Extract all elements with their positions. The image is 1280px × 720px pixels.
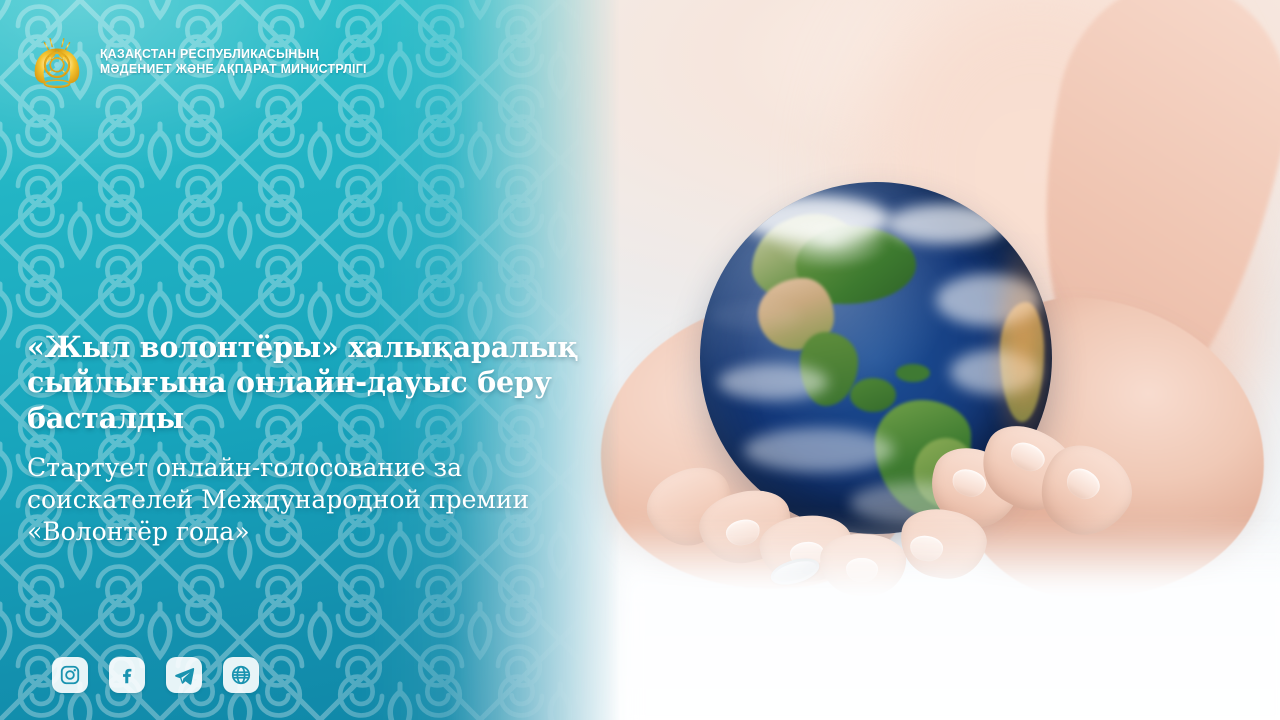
kazakhstan-state-emblem-icon <box>28 33 86 91</box>
foreground-white-surface <box>620 520 1280 720</box>
ministry-title: ҚАЗАҚСТАН РЕСПУБЛИКАСЫНЫҢ МӘДЕНИЕТ ЖӘНЕ … <box>100 47 387 77</box>
ministry-line-2: МӘДЕНИЕТ ЖӘНЕ АҚПАРАТ МИНИСТРЛІГІ <box>100 62 367 77</box>
instagram-icon[interactable] <box>52 657 88 693</box>
ministry-header: ҚАЗАҚСТАН РЕСПУБЛИКАСЫНЫҢ МӘДЕНИЕТ ЖӘНЕ … <box>28 33 387 91</box>
facebook-icon[interactable] <box>109 657 145 693</box>
globe-specular-highlight <box>770 210 890 270</box>
social-links <box>52 657 259 693</box>
news-banner: ҚАЗАҚСТАН РЕСПУБЛИКАСЫНЫҢ МӘДЕНИЕТ ЖӘНЕ … <box>0 0 1280 720</box>
telegram-icon[interactable] <box>166 657 202 693</box>
ministry-line-1: ҚАЗАҚСТАН РЕСПУБЛИКАСЫНЫҢ <box>100 47 367 62</box>
headline-kazakh: «Жыл волонтёры» халықаралық сыйлығына он… <box>27 330 592 436</box>
website-globe-icon[interactable] <box>223 657 259 693</box>
headline-russian: Стартует онлайн-голосование за соискател… <box>27 452 602 548</box>
